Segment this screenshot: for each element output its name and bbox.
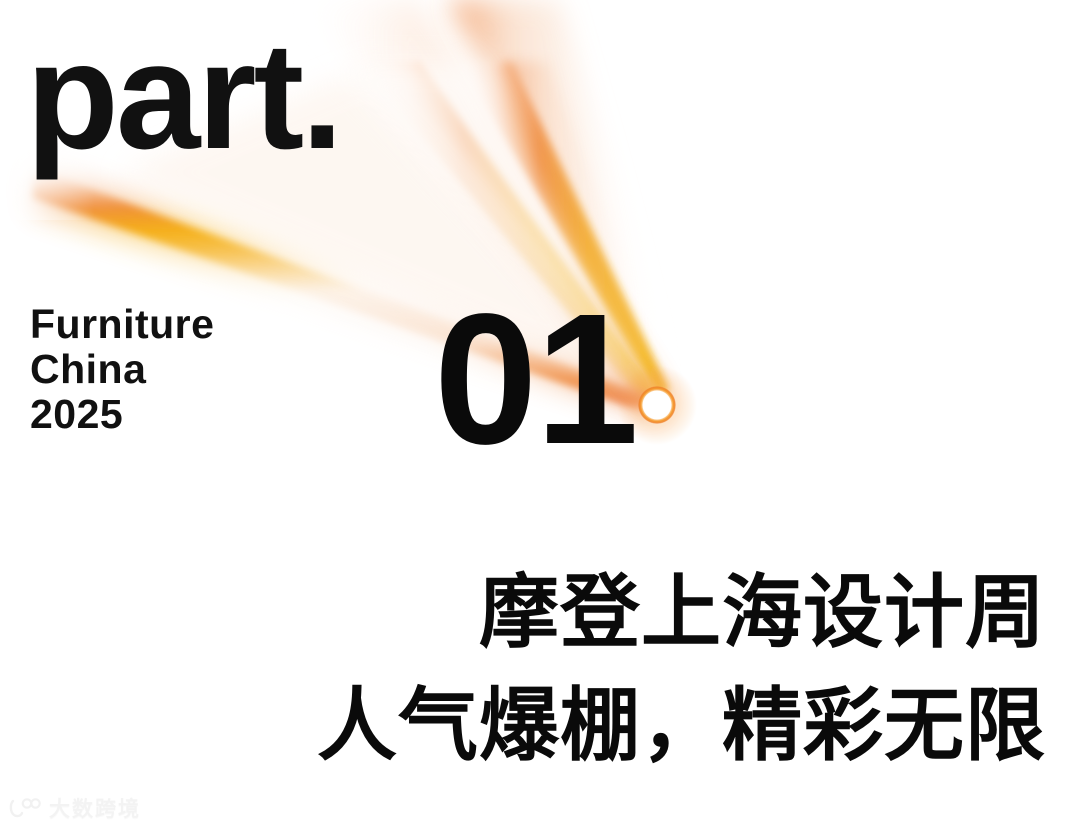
headline-block: 摩登上海设计周 人气爆棚，精彩无限 <box>0 556 1046 782</box>
brand-wordmark: part. <box>26 20 340 172</box>
poster-canvas: part. Furniture China 2025 01 摩登上海设计周 人气… <box>0 0 1080 831</box>
event-name: Furniture China 2025 <box>30 302 214 437</box>
headline-line-2: 人气爆棚，精彩无限 <box>0 669 1046 782</box>
watermark: 大数跨境 <box>8 793 141 823</box>
headline-line-1: 摩登上海设计周 <box>0 556 1046 669</box>
dashu-kuajing-logo-icon <box>8 797 42 819</box>
part-number: 01 <box>434 287 637 473</box>
watermark-text: 大数跨境 <box>49 793 141 823</box>
